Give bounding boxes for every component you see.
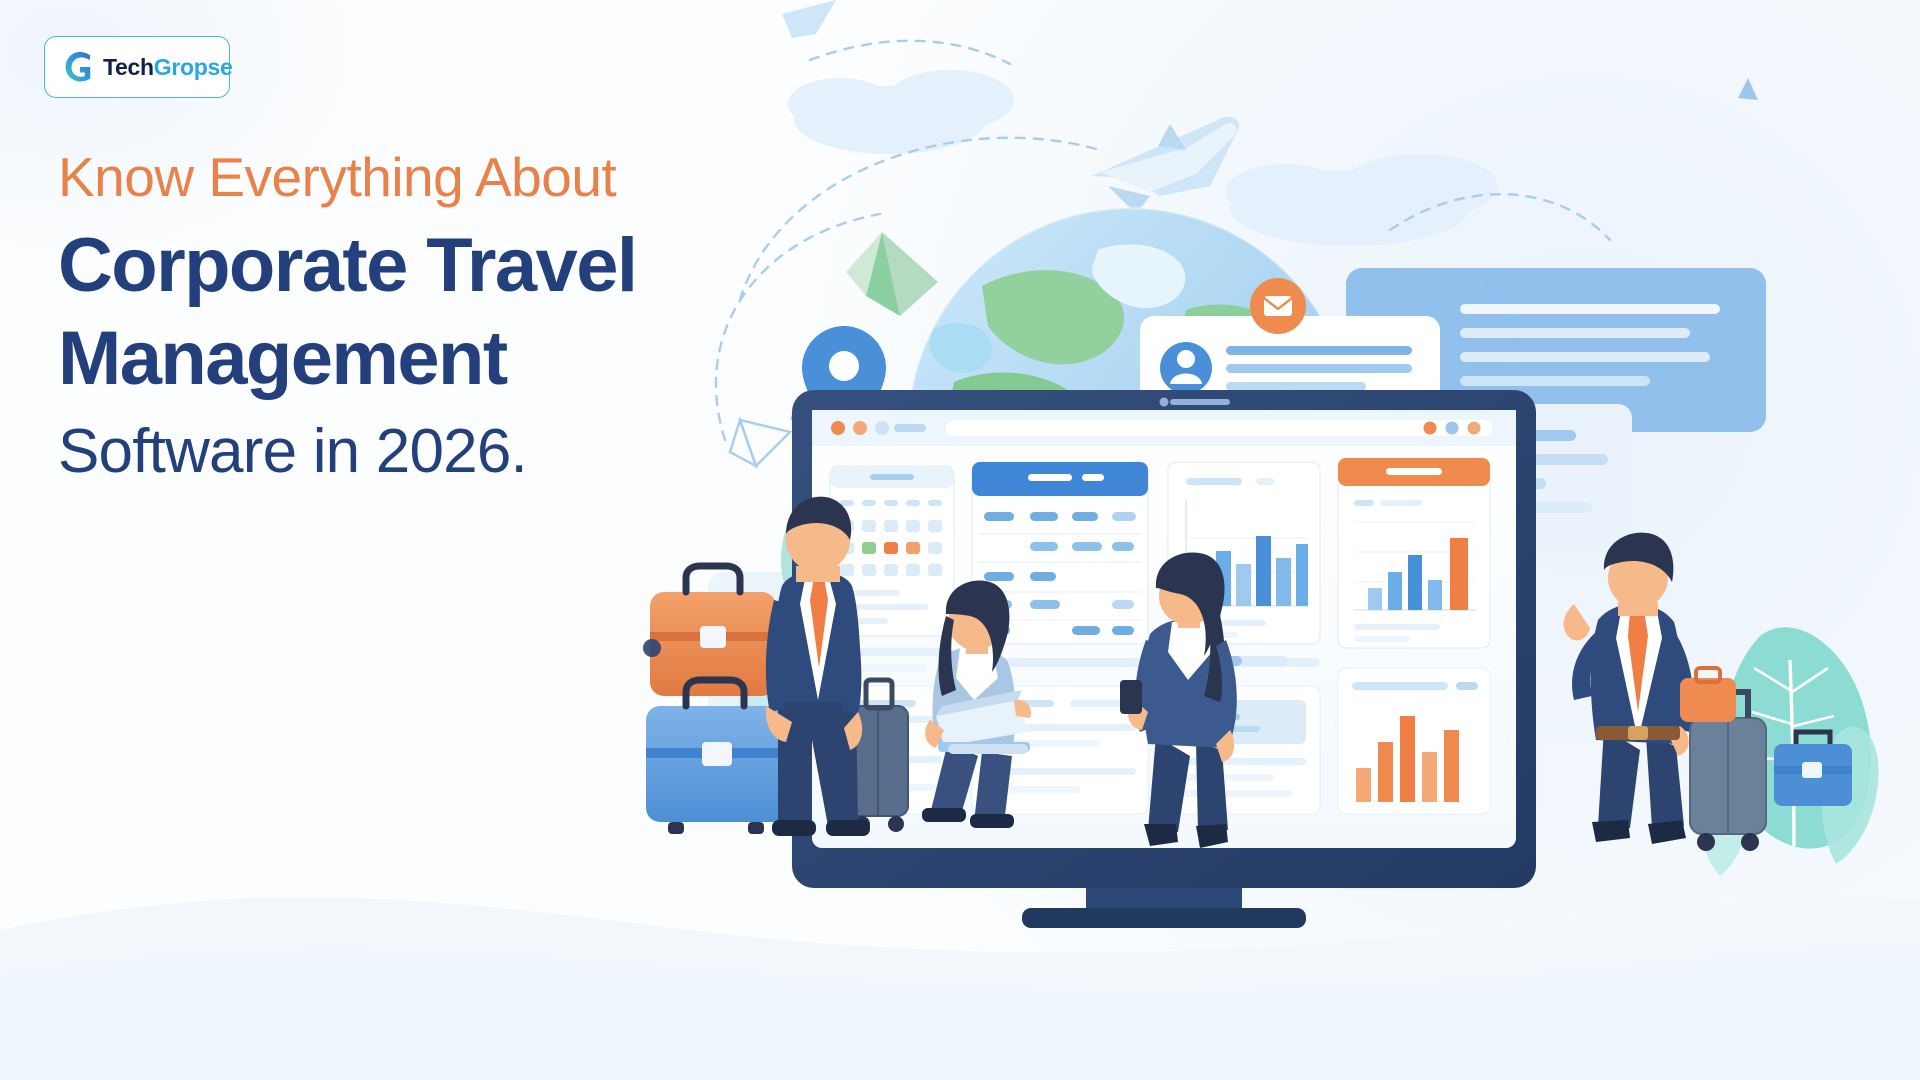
bar-chart-orange-widget[interactable] [1338, 458, 1490, 648]
letter-g-gradient-icon [61, 50, 95, 84]
mail-badge-icon[interactable] [1250, 278, 1306, 334]
paper-plane-icon [846, 232, 938, 316]
paper-plane-outline-icon [730, 420, 790, 466]
banner-canvas: TechGropse Know Everything About Corpora… [0, 0, 1920, 1080]
logo-text-gropse: Gropse [154, 54, 233, 80]
hero-illustration [630, 0, 1920, 1080]
small-airplane-icon [782, 0, 836, 38]
airplane-icon [1092, 117, 1239, 214]
logo-text: TechGropse [103, 54, 233, 81]
logo[interactable]: TechGropse [44, 36, 230, 98]
decorative-dots [643, 639, 661, 657]
mobile-phone-icon [1120, 680, 1142, 714]
person-businessman-right [1564, 533, 1694, 844]
illustration-svg [630, 0, 1920, 1080]
logo-text-tech: Tech [103, 54, 154, 80]
